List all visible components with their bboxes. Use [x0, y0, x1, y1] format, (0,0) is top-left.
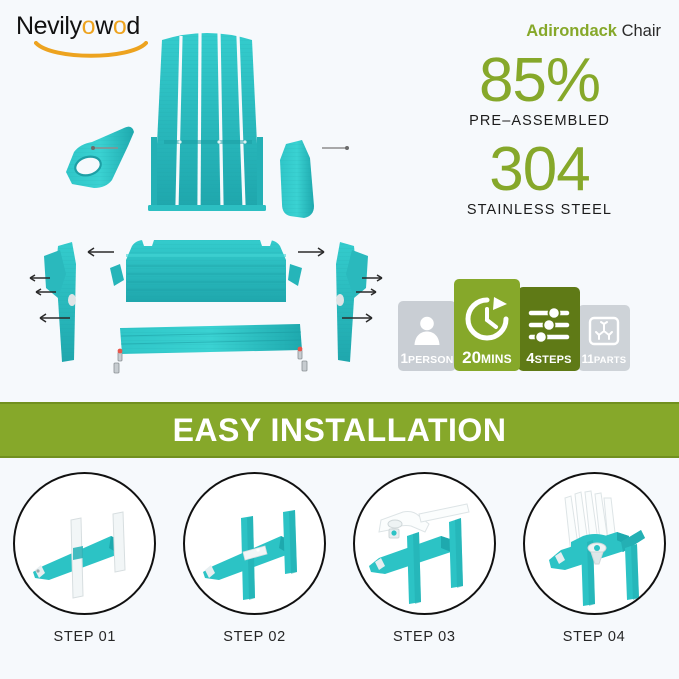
badge-mins-unit: MINS	[481, 352, 512, 366]
part-backrest	[148, 32, 266, 211]
person-icon	[412, 309, 442, 351]
stats-block: 85% PRE–ASSEMBLED 304 STAINLESS STEEL	[400, 52, 679, 230]
step-illustration-1	[13, 472, 156, 615]
spec-badges: 1PERSON 20MINS	[398, 279, 630, 371]
badge-mins: 20MINS	[454, 279, 520, 371]
badge-steps: 4STEPS	[518, 287, 580, 371]
part-front-crossbar	[114, 324, 307, 373]
sliders-icon	[528, 299, 570, 351]
exploded-view-diagram	[14, 20, 400, 390]
easy-installation-banner: EASY INSTALLATION	[0, 402, 679, 458]
part-right-leg	[336, 242, 382, 362]
step-label-4: STEP 04	[563, 629, 626, 645]
product-name-regular: Chair	[617, 22, 661, 40]
badge-mins-value: 20	[462, 348, 481, 367]
product-name-bold: Adirondack	[526, 22, 617, 40]
stat-value-1: 304	[400, 141, 679, 198]
badge-parts-unit: PARTS	[594, 355, 627, 366]
badge-person: 1PERSON	[398, 301, 456, 371]
step-label-3: STEP 03	[393, 629, 456, 645]
parts-icon	[588, 311, 620, 351]
clock-arrow-icon	[463, 289, 511, 349]
step-item-1: STEP 01	[5, 472, 165, 645]
step-item-3: STEP 03	[344, 472, 504, 645]
part-left-leg	[30, 242, 76, 362]
step-item-4: STEP 04	[514, 472, 674, 645]
stat-value-0: 85%	[400, 52, 679, 109]
badge-mins-label: 20MINS	[462, 349, 512, 367]
product-title: Adirondack Chair	[526, 22, 661, 41]
step-illustration-2	[183, 472, 326, 615]
banner-title: EASY INSTALLATION	[173, 412, 507, 449]
infographic-page: Nevilyowod Adirondack Chair	[0, 0, 679, 679]
badge-person-label: 1PERSON	[400, 351, 453, 367]
badge-steps-unit: STEPS	[535, 354, 572, 366]
badge-parts-value: 11	[582, 354, 594, 366]
part-left-armrest-cupholder	[66, 127, 134, 188]
part-right-armrest	[280, 140, 349, 218]
stat-caption-1: STAINLESS STEEL	[400, 202, 679, 218]
badge-steps-label: 4STEPS	[526, 351, 571, 367]
part-seat-panel	[110, 240, 302, 302]
step-label-1: STEP 01	[54, 629, 117, 645]
step-label-2: STEP 02	[223, 629, 286, 645]
step-illustration-3	[353, 472, 496, 615]
step-illustration-4	[523, 472, 666, 615]
badge-steps-value: 4	[526, 350, 534, 367]
badge-parts-label: 11PARTS	[582, 351, 627, 367]
step-item-2: STEP 02	[175, 472, 335, 645]
stat-caption-0: PRE–ASSEMBLED	[400, 113, 679, 129]
badge-person-value: 1	[400, 351, 408, 366]
installation-steps: STEP 01 STEP 02	[0, 472, 679, 645]
badge-person-unit: PERSON	[408, 354, 454, 366]
badge-parts: 11PARTS	[578, 305, 630, 371]
